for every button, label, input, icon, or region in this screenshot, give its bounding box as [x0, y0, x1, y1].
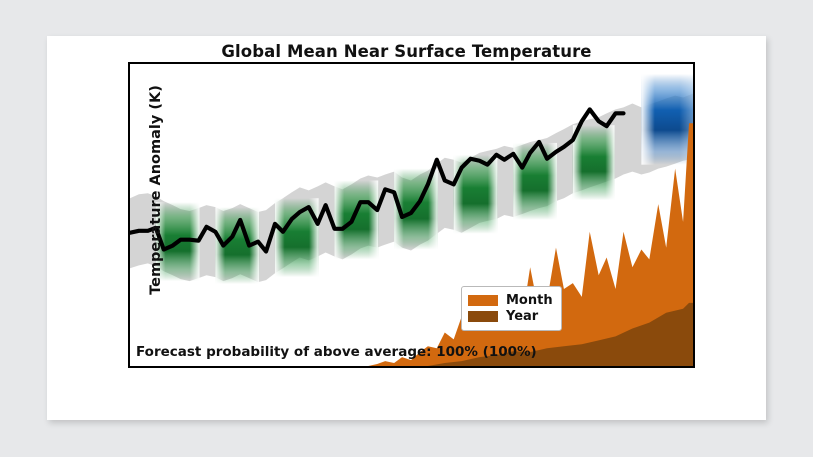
x-tickmark-2010 — [558, 366, 560, 368]
legend-swatch-year — [468, 311, 498, 322]
legend-label-month: Month — [506, 293, 553, 308]
observed-temperature-line — [130, 64, 693, 366]
y-tickmark-1.0 — [128, 97, 130, 99]
x-tickmark-2020 — [644, 366, 646, 368]
y2-tickmark-80 — [693, 150, 695, 152]
plot-area: Month Year Forecast probability of above… — [128, 62, 695, 368]
forecast-probability-annotation: Forecast probability of above average: 1… — [136, 344, 537, 360]
legend-label-year: Year — [506, 309, 538, 324]
x-tickmark-1980 — [301, 366, 303, 368]
y2-tickmark-60 — [693, 205, 695, 207]
x-tickmark-1990 — [387, 366, 389, 368]
y2-tickmark-100 — [693, 95, 695, 97]
y2-tickmark-20 — [693, 314, 695, 316]
y-tickmark-m1.0 — [128, 353, 130, 355]
x-tickmark-1960 — [129, 366, 131, 368]
y-tickmark-m0.5 — [128, 289, 130, 291]
y-tickmark-0.0 — [128, 225, 130, 227]
legend-item-month[interactable]: Month — [468, 293, 553, 308]
x-tickmark-2000 — [473, 366, 475, 368]
legend-swatch-month — [468, 295, 498, 306]
y-tickmark-0.5 — [128, 161, 130, 163]
legend-item-year[interactable]: Year — [468, 309, 553, 324]
x-tickmark-1970 — [215, 366, 217, 368]
legend: Month Year — [461, 286, 562, 331]
plot-inner: Month Year Forecast probability of above… — [130, 64, 693, 366]
y-axis-label: Temperature Anomaly (K) — [148, 62, 164, 320]
y2-tickmark-40 — [693, 259, 695, 261]
chart-title: Global Mean Near Surface Temperature — [47, 42, 766, 61]
figure-panel: Global Mean Near Surface Temperature — [47, 36, 766, 420]
